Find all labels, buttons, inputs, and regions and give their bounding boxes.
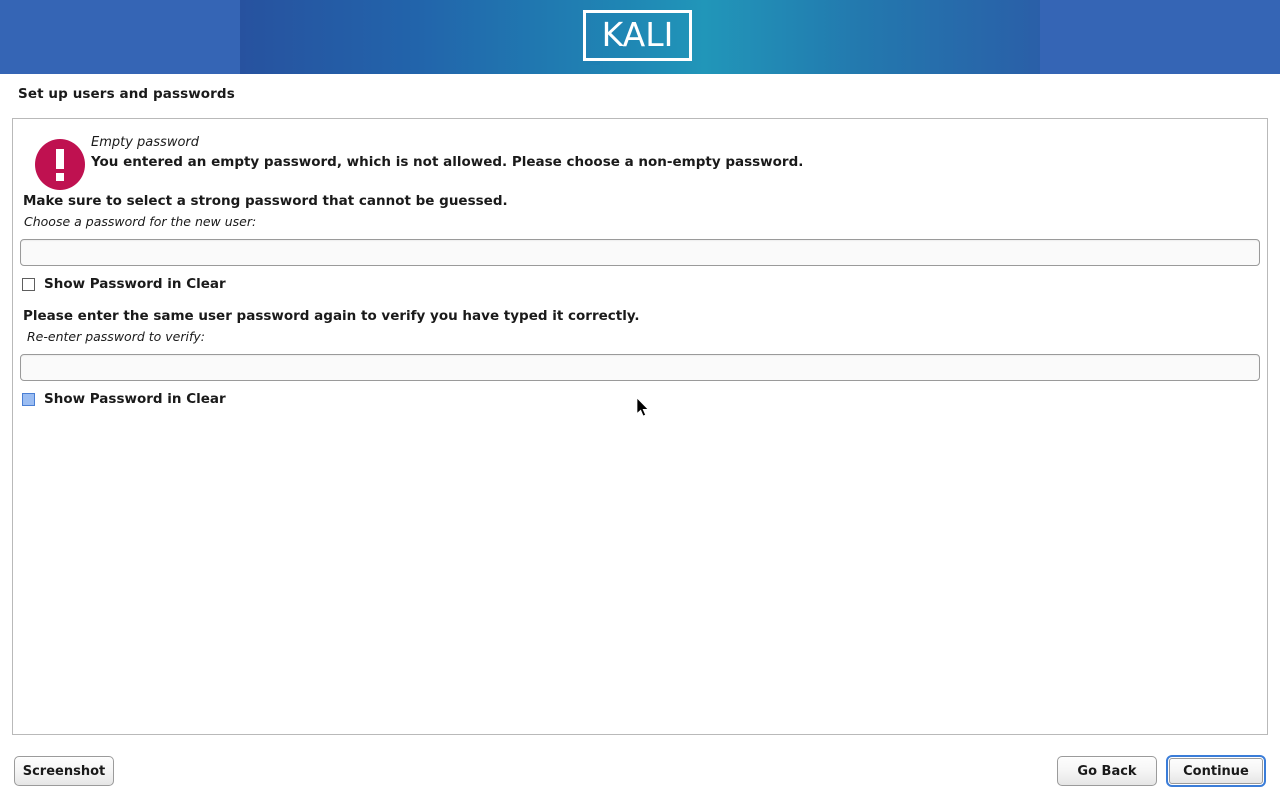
kali-logo-notch <box>586 61 600 65</box>
installer-window: KALI Set up users and passwords Empty pa… <box>0 0 1280 800</box>
kali-logo: KALI <box>583 10 696 65</box>
alert-message: You entered an empty password, which is … <box>91 154 803 170</box>
error-exclamation-icon <box>35 139 85 190</box>
show-password-label-1: Show Password in Clear <box>44 276 226 292</box>
go-back-button[interactable]: Go Back <box>1057 756 1157 786</box>
verify-password-hint: Please enter the same user password agai… <box>23 308 640 324</box>
show-password-checkbox-2[interactable] <box>22 393 35 406</box>
kali-banner: KALI <box>0 0 1280 74</box>
alert-title: Empty password <box>91 135 199 150</box>
show-password-label-2: Show Password in Clear <box>44 391 226 407</box>
strong-password-hint: Make sure to select a strong password th… <box>23 193 508 209</box>
show-password-row-2[interactable]: Show Password in Clear <box>22 391 226 407</box>
content-panel: Empty password You entered an empty pass… <box>12 118 1268 735</box>
kali-logo-text: KALI <box>583 10 692 61</box>
password-input[interactable] <box>20 239 1260 266</box>
continue-button-label: Continue <box>1169 758 1263 784</box>
exclamation-dot <box>56 173 64 181</box>
show-password-row-1[interactable]: Show Password in Clear <box>22 276 226 292</box>
password-field-label: Choose a password for the new user: <box>24 214 256 229</box>
screenshot-button[interactable]: Screenshot <box>14 756 114 786</box>
exclamation-bar <box>56 149 64 169</box>
continue-button[interactable]: Continue <box>1166 755 1266 787</box>
verify-field-label: Re-enter password to verify: <box>27 329 205 344</box>
page-title: Set up users and passwords <box>18 86 235 102</box>
verify-password-input[interactable] <box>20 354 1260 381</box>
show-password-checkbox-1[interactable] <box>22 278 35 291</box>
